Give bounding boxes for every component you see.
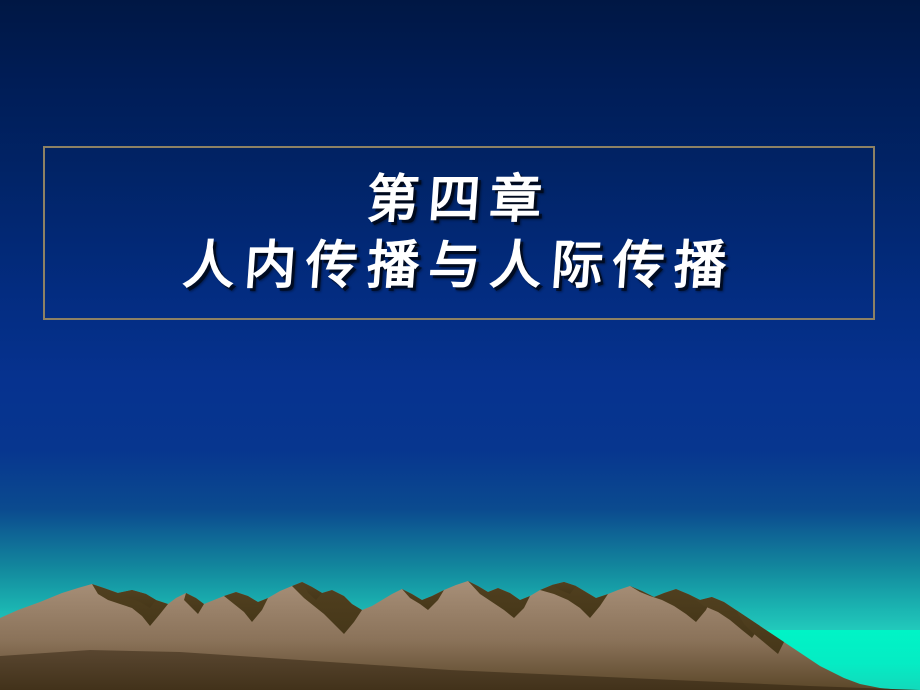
mountain-range-silhouette: [0, 560, 920, 690]
title-line-1: 第四章: [365, 174, 553, 226]
presentation-slide: 第四章 人内传播与人际传播: [0, 0, 920, 690]
title-line-2: 人内传播与人际传播: [181, 240, 737, 292]
title-frame: 第四章 人内传播与人际传播: [43, 146, 875, 320]
